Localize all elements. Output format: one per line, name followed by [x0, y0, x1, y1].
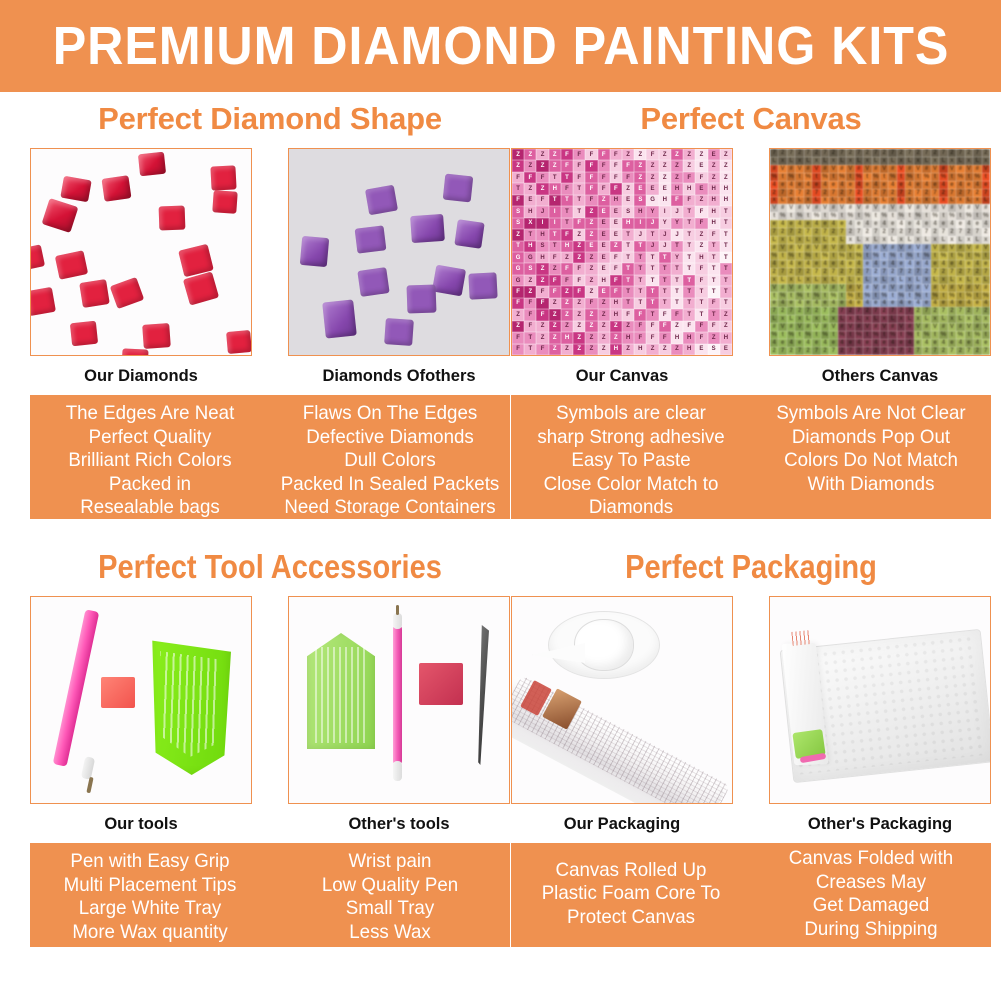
canvas-pixel-cell: 2 [880, 149, 888, 157]
canvas-pixel-cell: 4 [939, 260, 947, 268]
canvas-symbol-cell: T [659, 286, 671, 297]
canvas-pixel-cell: % [922, 173, 930, 181]
canvas-symbol-cell: Z [585, 229, 597, 240]
canvas-symbol-cell: Z [585, 206, 597, 217]
canvas-pixel-cell: x [939, 197, 947, 205]
canvas-pixel-cell: x [855, 276, 863, 284]
canvas-symbol-cell: T [646, 252, 658, 263]
canvas-symbol-cell: T [512, 183, 524, 194]
canvas-pixel-cell: V [922, 284, 930, 292]
canvas-pixel-cell: L [965, 276, 973, 284]
canvas-pixel-cell: 7 [855, 228, 863, 236]
canvas-symbol-cell: Z [695, 195, 707, 206]
canvas-pixel-cell: 7 [897, 347, 905, 355]
canvas-symbol-cell: Z [549, 263, 561, 274]
canvas-symbol-cell: T [622, 275, 634, 286]
canvas-pixel-cell: t [888, 212, 896, 220]
canvas-pixel-cell: L [905, 236, 913, 244]
canvas-pixel-cell: 2 [863, 307, 871, 315]
photo-cell-other-tools: Other's tools [288, 596, 510, 834]
canvas-pixel-cell: % [855, 331, 863, 339]
canvas-pixel-cell: 2 [821, 347, 829, 355]
canvas-pixel-cell: t [795, 173, 803, 181]
canvas-pixel-cell: t [973, 212, 981, 220]
canvas-pixel-cell: 2 [922, 347, 930, 355]
canvas-pixel-cell: # [922, 165, 930, 173]
canvas-pixel-cell: 7 [795, 189, 803, 197]
canvas-pixel-cell: 7 [931, 268, 939, 276]
canvas-symbol-cell: Z [549, 309, 561, 320]
canvas-pixel-cell: # [880, 204, 888, 212]
canvas-pixel-cell: x [812, 236, 820, 244]
canvas-pixel-cell: 2 [770, 268, 778, 276]
canvas-pixel-cell: 7 [829, 347, 837, 355]
canvas-pixel-cell: e [956, 300, 964, 308]
canvas-pixel-cell: 2 [872, 347, 880, 355]
canvas-pixel-cell: e [795, 181, 803, 189]
canvas-pixel-cell: # [872, 244, 880, 252]
canvas-pixel-cell: 7 [770, 149, 778, 157]
canvas-pixel-cell: e [897, 260, 905, 268]
canvas-symbol-cell: F [683, 321, 695, 332]
section-canvas: Perfect Canvas ZZZZFFFFFZZFZZZZEZZZZZFFF… [511, 101, 991, 519]
canvas-pixel-cell: L [795, 276, 803, 284]
canvas-pixel-cell: L [888, 157, 896, 165]
canvas-pixel-cell: x [846, 236, 854, 244]
canvas-pixel-cell: % [838, 252, 846, 260]
canvas-pixel-cell: 7 [965, 347, 973, 355]
canvas-pixel-cell: 4 [880, 220, 888, 228]
canvas-symbol-cell: Z [536, 183, 548, 194]
canvas-pixel-cell: 7 [770, 307, 778, 315]
canvas-symbol-cell: T [695, 298, 707, 309]
canvas-pixel-cell: t [770, 292, 778, 300]
caption-line: Large White Tray [35, 897, 265, 921]
canvas-pixel-cell: x [914, 236, 922, 244]
canvas-pixel-cell: 7 [855, 149, 863, 157]
canvas-symbol-cell: Y [671, 252, 683, 263]
canvas-pixel-cell: V [914, 323, 922, 331]
canvas-pixel-cell: L [821, 157, 829, 165]
canvas-symbol-cell: F [585, 160, 597, 171]
canvas-symbol-cell: F [610, 286, 622, 297]
canvas-symbol-cell: G [646, 195, 658, 206]
canvas-pixel-cell: 4 [956, 260, 964, 268]
canvas-pixel-cell: x [973, 197, 981, 205]
canvas-pixel-cell: 2 [948, 307, 956, 315]
canvas-pixel-cell: L [770, 236, 778, 244]
canvas-pixel-cell: # [838, 165, 846, 173]
canvas-symbol-cell: T [683, 286, 695, 297]
canvas-pixel-cell: V [973, 204, 981, 212]
canvas-pixel-cell: V [897, 165, 905, 173]
page-title: PREMIUM DIAMOND PAINTING KITS [52, 15, 949, 77]
canvas-pixel-cell: 7 [880, 347, 888, 355]
canvas-pixel-cell: 4 [973, 181, 981, 189]
canvas-pixel-cell: t [965, 331, 973, 339]
canvas-pixel-cell: 7 [821, 307, 829, 315]
canvas-pixel-cell: 2 [905, 189, 913, 197]
canvas-symbol-cell: T [683, 263, 695, 274]
canvas-pixel-cell: % [965, 292, 973, 300]
canvas-pixel-cell: 7 [829, 268, 837, 276]
canvas-symbol-cell: F [512, 332, 524, 343]
canvas-symbol-cell: F [622, 160, 634, 171]
canvas-symbol-cell: Z [659, 160, 671, 171]
caption-line: Pen with Easy Grip [35, 850, 265, 874]
canvas-symbol-cell: Z [646, 160, 658, 171]
canvas-pixel-cell: e [855, 300, 863, 308]
canvas-pixel-cell: 2 [787, 268, 795, 276]
canvas-pixel-cell: 7 [770, 228, 778, 236]
canvas-symbol-cell: H [708, 195, 720, 206]
caption-box-tools: Pen with Easy Grip Multi Placement Tips … [30, 843, 510, 947]
canvas-symbol-cell: T [695, 286, 707, 297]
canvas-symbol-cell: T [634, 286, 646, 297]
canvas-symbol-cell: Z [585, 275, 597, 286]
canvas-symbol-cell: F [646, 321, 658, 332]
canvas-symbol-cell: I [549, 206, 561, 217]
canvas-pixel-cell: x [931, 157, 939, 165]
canvas-pixel-cell: # [855, 244, 863, 252]
canvas-symbol-cell: F [598, 149, 610, 160]
canvas-symbol-cell: H [671, 183, 683, 194]
canvas-pixel-cell: e [897, 181, 905, 189]
canvas-pixel-cell: 4 [778, 300, 786, 308]
canvas-pixel-cell: V [846, 244, 854, 252]
canvas-pixel-cell: 2 [939, 268, 947, 276]
canvas-symbol-cell: F [512, 344, 524, 355]
canvas-symbol-cell: F [659, 332, 671, 343]
canvas-pixel-cell: 7 [872, 307, 880, 315]
canvas-pixel-cell: e [939, 220, 947, 228]
caption-line: The Edges Are Neat [35, 402, 265, 426]
canvas-pixel-cell: 7 [838, 149, 846, 157]
canvas-symbol-cell: T [646, 298, 658, 309]
canvas-pixel-cell: x [846, 315, 854, 323]
canvas-pixel-cell: L [888, 315, 896, 323]
canvas-symbol-cell: T [573, 195, 585, 206]
canvas-symbol-cell: Z [708, 160, 720, 171]
canvas-symbol-cell: Z [708, 172, 720, 183]
canvas-pixel-cell: % [922, 331, 930, 339]
canvas-pixel-cell: x [838, 276, 846, 284]
canvas-pixel-cell: % [888, 173, 896, 181]
canvas-pixel-cell: % [939, 331, 947, 339]
canvas-pixel-cell: x [795, 236, 803, 244]
canvas-pixel-cell: 4 [787, 339, 795, 347]
canvas-pixel-cell: % [948, 292, 956, 300]
canvas-pixel-cell: 4 [914, 300, 922, 308]
canvas-pixel-cell: V [804, 204, 812, 212]
canvas-pixel-cell: 4 [787, 181, 795, 189]
canvas-pixel-cell: e [787, 220, 795, 228]
canvas-pixel-cell: % [905, 173, 913, 181]
canvas-pixel-cell: x [914, 315, 922, 323]
canvas-symbol-cell: T [646, 275, 658, 286]
canvas-symbol-cell: H [683, 344, 695, 355]
canvas-pixel-cell: 7 [838, 228, 846, 236]
canvas-symbol-cell: T [549, 195, 561, 206]
canvas-symbol-cell: E [708, 149, 720, 160]
canvas-pixel-cell: % [804, 173, 812, 181]
canvas-symbol-cell: E [720, 344, 732, 355]
canvas-pixel-cell: V [872, 204, 880, 212]
canvas-symbol-cell: E [622, 195, 634, 206]
canvas-symbol-cell: S [512, 218, 524, 229]
canvas-symbol-cell: Z [610, 241, 622, 252]
canvas-pixel-cell: % [795, 212, 803, 220]
caption-line: Flaws On The Edges [275, 402, 505, 426]
canvas-pixel-cell: 2 [804, 189, 812, 197]
canvas-pixel-cell: % [872, 173, 880, 181]
canvas-pixel-cell: # [905, 323, 913, 331]
canvas-symbol-cell: Z [646, 172, 658, 183]
canvas-pixel-cell: x [863, 315, 871, 323]
canvas-symbol-cell: F [634, 321, 646, 332]
canvas-pixel-cell: 7 [888, 149, 896, 157]
canvas-symbol-cell: T [708, 275, 720, 286]
canvas-pixel-cell: 4 [939, 181, 947, 189]
canvas-pixel-cell: L [914, 197, 922, 205]
canvas-pixel-cell: % [973, 331, 981, 339]
canvas-pixel-cell: t [812, 173, 820, 181]
canvas-symbol-cell: J [659, 241, 671, 252]
canvas-pixel-cell: 4 [846, 300, 854, 308]
canvas-pixel-cell: t [956, 212, 964, 220]
canvas-pixel-cell: 4 [914, 220, 922, 228]
canvas-symbol-cell: E [610, 206, 622, 217]
canvas-symbol-cell: H [634, 206, 646, 217]
canvas-pixel-cell: t [939, 292, 947, 300]
canvas-pixel-cell: e [965, 339, 973, 347]
canvas-pixel-cell: 2 [821, 189, 829, 197]
canvas-pixel-cell: # [931, 204, 939, 212]
canvas-pixel-cell: # [939, 323, 947, 331]
canvas-pixel-cell: t [939, 212, 947, 220]
canvas-pixel-cell: x [948, 157, 956, 165]
canvas-pixel-cell: t [973, 292, 981, 300]
canvas-symbol-cell: Z [585, 218, 597, 229]
canvas-pixel-cell: x [838, 197, 846, 205]
canvas-pixel-cell: L [804, 236, 812, 244]
caption-line: Packed in [35, 473, 265, 497]
canvas-pixel-cell: e [838, 220, 846, 228]
canvas-pixel-cell: # [821, 165, 829, 173]
canvas-pixel-cell: t [931, 331, 939, 339]
canvas-pixel-cell: x [948, 315, 956, 323]
canvas-pixel-cell: x [956, 197, 964, 205]
canvas-symbol-cell: H [671, 332, 683, 343]
canvas-pixel-cell: 2 [897, 307, 905, 315]
canvas-pixel-cell: t [829, 331, 837, 339]
canvas-pixel-cell: 2 [829, 228, 837, 236]
canvas-symbol-cell: H [549, 183, 561, 194]
caption-line: Low Quality Pen [275, 874, 505, 898]
photo-label: Other's Packaging [769, 815, 991, 834]
canvas-pixel-cell: # [888, 244, 896, 252]
canvas-symbol-cell: F [512, 286, 524, 297]
canvas-pixel-cell: % [778, 212, 786, 220]
canvas-pixel-cell: 4 [770, 181, 778, 189]
photo-label: Our tools [30, 815, 252, 834]
canvas-pixel-cell: 4 [872, 339, 880, 347]
canvas-pixel-cell: V [931, 323, 939, 331]
canvas-pixel-cell: t [795, 252, 803, 260]
caption-line: Colors Do Not Match [756, 449, 986, 473]
canvas-pixel-cell: x [880, 315, 888, 323]
canvas-pixel-cell: % [855, 252, 863, 260]
canvas-pixel-cell: V [880, 323, 888, 331]
canvas-pixel-cell: 4 [846, 220, 854, 228]
canvas-pixel-cell: L [872, 236, 880, 244]
canvas-pixel-cell: 7 [897, 268, 905, 276]
canvas-symbol-cell: I [634, 218, 646, 229]
canvas-pixel-cell: # [829, 284, 837, 292]
canvas-symbol-cell: T [720, 286, 732, 297]
canvas-symbol-cell: Z [634, 149, 646, 160]
canvas-pixel-cell: 7 [812, 268, 820, 276]
canvas-pixel-cell: % [982, 292, 990, 300]
canvas-symbol-cell: Z [573, 298, 585, 309]
canvas-pixel-cell: 4 [888, 181, 896, 189]
canvas-pixel-cell: # [795, 204, 803, 212]
canvas-symbol-cell: T [683, 309, 695, 320]
canvas-symbol-cell: T [561, 172, 573, 183]
canvas-pixel-cell: e [905, 220, 913, 228]
canvas-symbol-cell: T [634, 263, 646, 274]
canvas-pixel-cell: % [787, 331, 795, 339]
canvas-symbol-cell: F [598, 172, 610, 183]
canvas-pixel-cell: e [965, 181, 973, 189]
canvas-pixel-cell: V [982, 323, 990, 331]
canvas-symbol-cell: Z [573, 252, 585, 263]
canvas-symbol-cell: F [512, 195, 524, 206]
canvas-pixel-cell: x [863, 236, 871, 244]
canvas-symbol-cell: T [708, 252, 720, 263]
canvas-symbol-cell: Z [585, 344, 597, 355]
canvas-pixel-cell: t [982, 252, 990, 260]
canvas-pixel-cell: 4 [880, 300, 888, 308]
canvas-pixel-cell: # [770, 323, 778, 331]
canvas-symbol-cell: T [683, 298, 695, 309]
caption-box-diamond-shape: The Edges Are Neat Perfect Quality Brill… [30, 395, 510, 519]
canvas-pixel-cell: V [829, 244, 837, 252]
canvas-symbol-cell: F [536, 298, 548, 309]
canvas-pixel-cell: # [812, 284, 820, 292]
section-packaging: Perfect Packaging Our Packaging [511, 548, 991, 947]
canvas-pixel-cell: 7 [965, 268, 973, 276]
canvas-pixel-cell: e [880, 339, 888, 347]
canvas-symbol-cell: Z [549, 344, 561, 355]
canvas-symbol-cell: T [683, 206, 695, 217]
canvas-symbol-cell: T [622, 252, 634, 263]
canvas-symbol-cell: F [512, 298, 524, 309]
canvas-symbol-cell: T [549, 229, 561, 240]
canvas-pixel-cell: e [888, 300, 896, 308]
canvas-symbol-cell: Z [561, 344, 573, 355]
canvas-pixel-cell: t [829, 173, 837, 181]
canvas-pixel-cell: 7 [804, 228, 812, 236]
canvas-symbol-cell: Z [561, 252, 573, 263]
our-tools-photo [30, 596, 252, 804]
canvas-pixel-cell: x [829, 157, 837, 165]
canvas-symbol-cell: F [573, 218, 585, 229]
canvas-pixel-cell: V [863, 244, 871, 252]
canvas-symbol-cell: Z [720, 309, 732, 320]
canvas-pixel-cell: x [897, 236, 905, 244]
canvas-pixel-cell: 7 [795, 268, 803, 276]
canvas-pixel-cell: V [804, 284, 812, 292]
photo-label: Our Diamonds [30, 367, 252, 386]
caption-box-packaging: Canvas Rolled Up Plastic Foam Core To Pr… [511, 843, 991, 947]
section-diamond-shape: Perfect Diamond Shape [30, 101, 510, 519]
canvas-symbol-cell: E [659, 183, 671, 194]
canvas-pixel-cell: 4 [973, 260, 981, 268]
canvas-symbol-cell: Z [598, 344, 610, 355]
canvas-pixel-cell: t [804, 212, 812, 220]
canvas-symbol-cell: F [561, 183, 573, 194]
canvas-pixel-cell: % [872, 331, 880, 339]
canvas-pixel-cell: # [872, 165, 880, 173]
canvas-pixel-cell: 2 [931, 149, 939, 157]
canvas-symbol-cell: T [708, 241, 720, 252]
canvas-pixel-cell: # [982, 284, 990, 292]
canvas-pixel-cell: L [939, 315, 947, 323]
canvas-pixel-cell: % [812, 292, 820, 300]
canvas-pixel-cell: 2 [829, 149, 837, 157]
canvas-pixel-cell: 7 [846, 268, 854, 276]
canvas-symbol-cell: Z [671, 321, 683, 332]
canvas-pixel-cell: L [863, 276, 871, 284]
canvas-symbol-cell: J [659, 229, 671, 240]
canvas-pixel-cell: 4 [855, 181, 863, 189]
canvas-pixel-cell: e [922, 220, 930, 228]
canvas-symbol-cell: F [695, 332, 707, 343]
canvas-pixel-cell: % [770, 252, 778, 260]
canvas-pixel-cell: 2 [863, 149, 871, 157]
caption-line: Less Wax [275, 921, 505, 945]
canvas-pixel-cell: e [880, 260, 888, 268]
canvas-pixel-cell: 4 [778, 220, 786, 228]
canvas-pixel-cell: V [880, 165, 888, 173]
canvas-pixel-cell: t [914, 331, 922, 339]
other-canvas-photo: 72727272727272727272727272LxLxLxLxLxLxLx… [769, 148, 991, 356]
canvas-pixel-cell: 2 [948, 149, 956, 157]
canvas-symbol-cell: H [720, 332, 732, 343]
canvas-symbol-cell: H [610, 344, 622, 355]
canvas-pixel-cell: V [905, 284, 913, 292]
canvas-pixel-cell: L [795, 197, 803, 205]
canvas-pixel-cell: x [897, 315, 905, 323]
canvas-pixel-cell: V [897, 244, 905, 252]
canvas-pixel-cell: % [804, 331, 812, 339]
canvas-pixel-cell: 4 [956, 339, 964, 347]
canvas-pixel-cell: # [982, 204, 990, 212]
canvas-symbol-cell: F [610, 172, 622, 183]
canvas-pixel-cell: V [956, 284, 964, 292]
photo-label: Other's tools [288, 815, 510, 834]
canvas-symbol-cell: H [524, 206, 536, 217]
canvas-symbol-cell: F [536, 195, 548, 206]
canvas-symbol-cell: F [708, 321, 720, 332]
canvas-pixel-cell: 7 [863, 268, 871, 276]
canvas-symbol-cell: F [708, 298, 720, 309]
canvas-pixel-cell: V [846, 165, 854, 173]
canvas-pixel-cell: L [982, 197, 990, 205]
canvas-symbol-cell: Z [524, 149, 536, 160]
canvas-pixel-cell: 4 [829, 220, 837, 228]
